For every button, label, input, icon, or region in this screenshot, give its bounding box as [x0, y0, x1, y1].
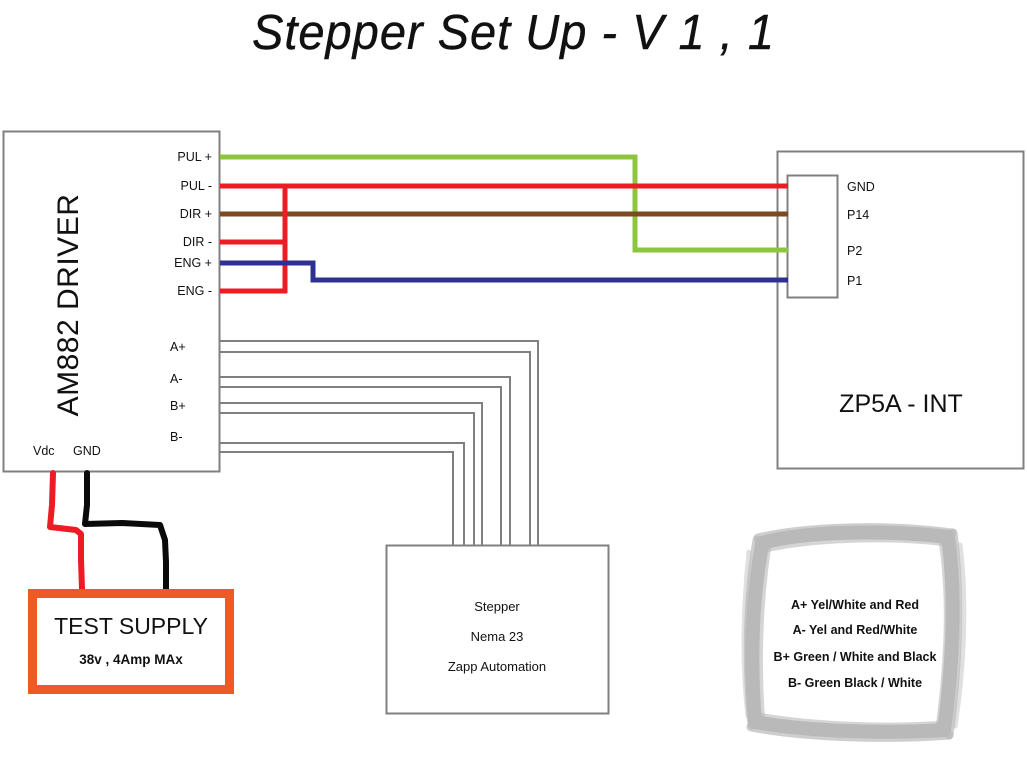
wire-motor-b-plus-2 — [220, 413, 474, 546]
driver-terminal-gnd: GND — [73, 444, 101, 458]
driver-terminal-a-minus: A- — [170, 372, 183, 386]
driver-terminal-vdc: Vdc — [33, 444, 55, 458]
wire-motor-a-plus-2 — [220, 352, 530, 546]
wire-vdc-red — [50, 473, 82, 589]
controller-name: ZP5A - INT — [779, 390, 1023, 419]
wire-gnd-black — [85, 473, 166, 589]
controller-pin-p14: P14 — [847, 208, 869, 222]
diagram-canvas: Stepper Set Up - V 1 , 1 — [0, 0, 1027, 768]
driver-terminal-pul-plus: PUL + — [120, 150, 212, 164]
power-supply-rating: 38v , 4Amp MAx — [28, 652, 234, 667]
driver-terminal-b-minus: B- — [170, 430, 183, 444]
legend-line-a-minus: A- Yel and Red/White — [755, 623, 955, 637]
motor-label-brand: Zapp Automation — [386, 659, 608, 674]
legend-line-b-plus: B+ Green / White and Black — [755, 650, 955, 664]
motor-label-model: Nema 23 — [386, 629, 608, 644]
controller-connector-box — [788, 176, 838, 298]
driver-terminal-eng-minus: ENG - — [120, 284, 212, 298]
wire-eng-plus-blue — [220, 263, 788, 280]
power-supply-box — [28, 589, 234, 694]
wire-pul-plus-green — [220, 157, 788, 250]
driver-terminal-eng-plus: ENG + — [120, 256, 212, 270]
wire-motor-b-minus-2 — [220, 452, 453, 546]
driver-name: AM882 DRIVER — [52, 180, 86, 430]
driver-terminal-dir-minus: DIR - — [120, 235, 212, 249]
legend-line-a-plus: A+ Yel/White and Red — [755, 598, 955, 612]
driver-terminal-pul-minus: PUL - — [120, 179, 212, 193]
wire-motor-b-plus-1 — [220, 403, 482, 546]
driver-terminal-a-plus: A+ — [170, 340, 186, 354]
legend-line-b-minus: B- Green Black / White — [755, 676, 955, 690]
controller-pin-p1: P1 — [847, 274, 862, 288]
motor-label-type: Stepper — [386, 599, 608, 614]
controller-pin-p2: P2 — [847, 244, 862, 258]
power-supply-title: TEST SUPPLY — [28, 613, 234, 640]
driver-terminal-b-plus: B+ — [170, 399, 186, 413]
controller-pin-gnd: GND — [847, 180, 875, 194]
driver-terminal-dir-plus: DIR + — [120, 207, 212, 221]
wire-motor-b-minus-1 — [220, 443, 464, 546]
wire-motor-a-minus-2 — [220, 387, 501, 546]
